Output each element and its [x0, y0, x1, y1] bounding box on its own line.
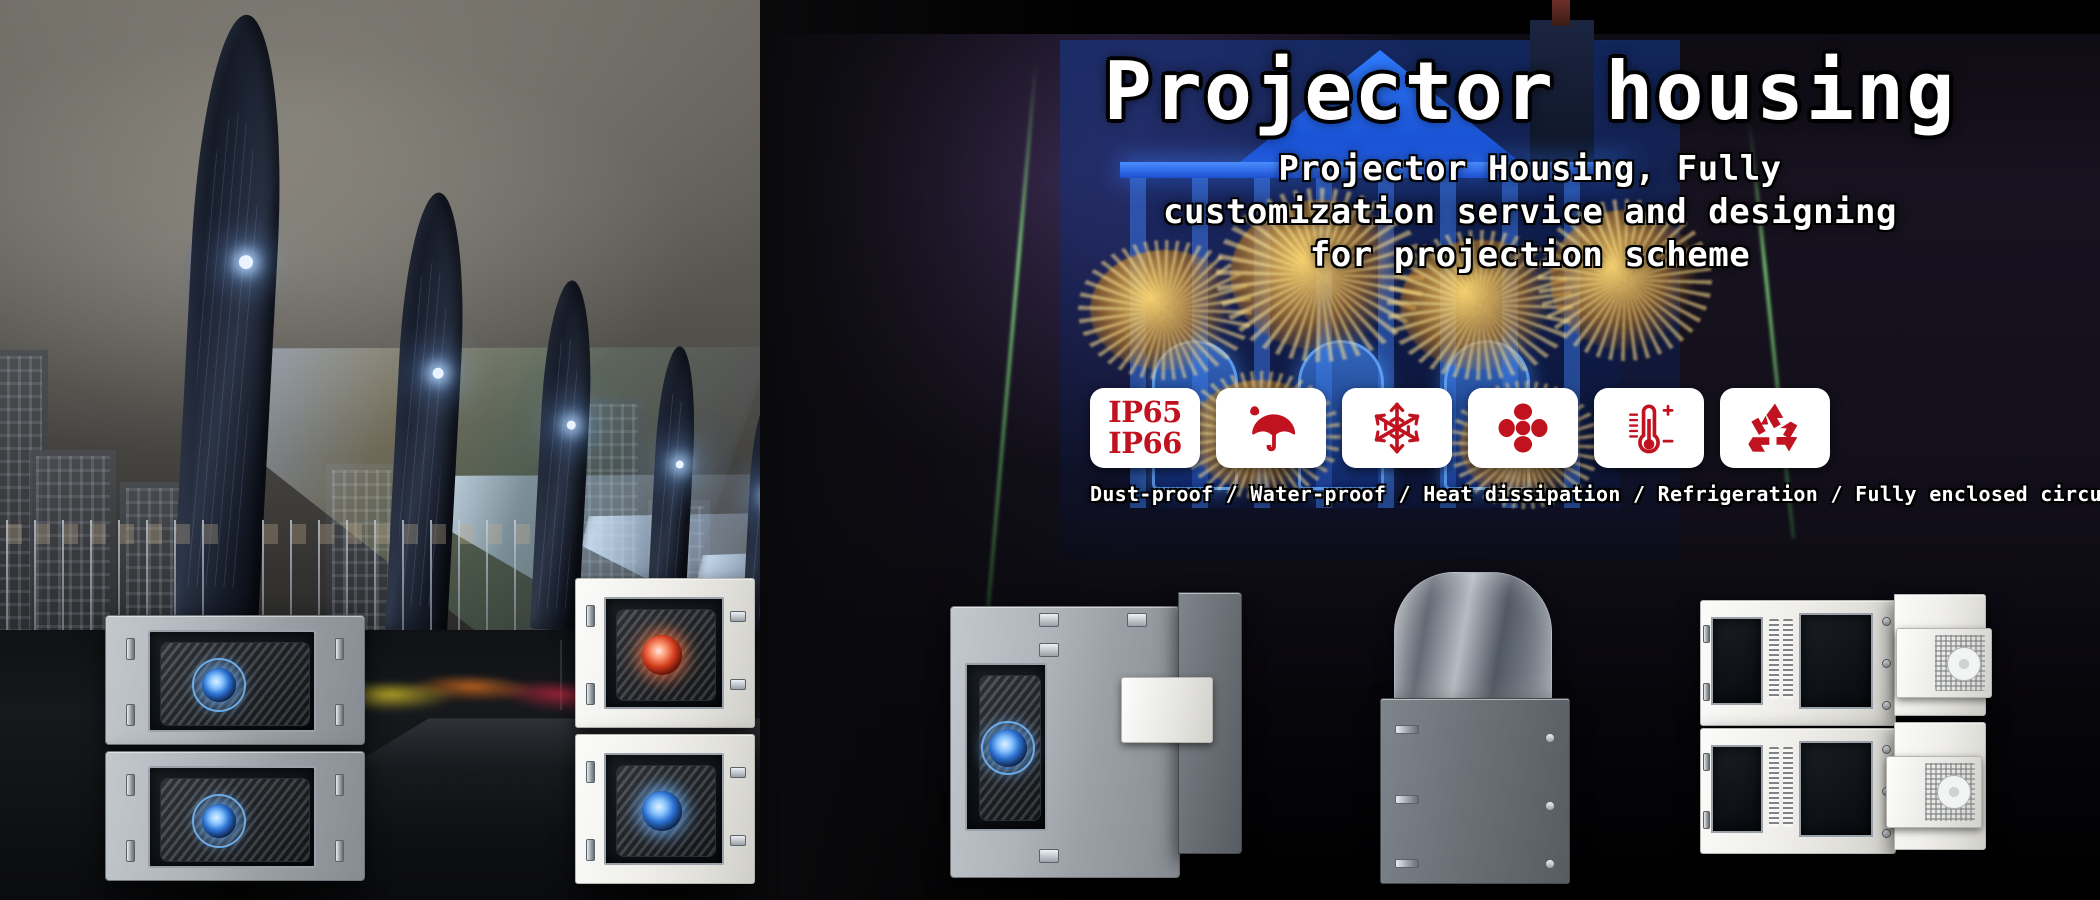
housing-hinge — [126, 704, 135, 726]
thermometer-icon — [1620, 399, 1678, 457]
housing-hinge — [335, 638, 344, 660]
housing-side-panel — [1121, 677, 1213, 743]
cabinet-window — [1711, 745, 1763, 833]
feature-tile-temperature-control[interactable] — [1594, 388, 1704, 468]
air-conditioner-unit-top — [1896, 628, 1992, 698]
housing-hinge — [126, 774, 135, 796]
fan-icon — [1494, 399, 1552, 457]
housing-hinge — [586, 605, 595, 627]
housing-hinge — [126, 638, 135, 660]
housing-latch — [730, 767, 746, 778]
stainless-dome — [1394, 572, 1552, 704]
feature-badges: IP65 IP66 — [1090, 388, 1910, 506]
housing-latch — [1545, 733, 1555, 743]
feature-tile-fully-enclosed-circulation[interactable] — [1720, 388, 1830, 468]
housing-window — [148, 630, 316, 732]
ac-fan-icon — [1937, 775, 1971, 809]
cabinet-unit-top — [1700, 600, 1896, 726]
housing-window — [604, 753, 724, 865]
housing-latch — [1127, 613, 1147, 627]
housing-latch — [730, 611, 746, 622]
product-dual-white-cabinet-housing[interactable] — [1700, 600, 2100, 900]
projector-lens — [642, 791, 682, 831]
feature-tile-ip-rating[interactable]: IP65 IP66 — [1090, 388, 1200, 468]
housing-hinge — [126, 840, 135, 862]
housing-window — [148, 766, 316, 868]
housing-unit-top — [105, 615, 365, 745]
page-title: Projector housing — [960, 50, 2100, 134]
product-grey-window-housing[interactable] — [950, 592, 1250, 892]
housing-hinge — [586, 839, 595, 861]
housing-hinge — [335, 840, 344, 862]
housing-hinge — [335, 774, 344, 796]
housing-latch — [1545, 801, 1555, 811]
ip-rating-line-1: IP65 — [1108, 397, 1182, 428]
projector-lens — [642, 635, 682, 675]
cabinet-unit-bottom — [1700, 728, 1896, 854]
snowflake-icon — [1369, 400, 1425, 456]
cabinet-latch — [1882, 745, 1891, 754]
projector-housing-banner: Projector housing Projector Housing, Ful… — [0, 0, 2100, 900]
ip-rating-line-2: IP66 — [1108, 428, 1182, 459]
cabinet-hinge — [1703, 811, 1710, 829]
product-stacked-grey-housing-pair[interactable] — [105, 615, 365, 900]
product-stacked-white-housing-pair[interactable] — [575, 578, 755, 900]
cabinet-latch — [1882, 829, 1891, 838]
housing-unit-bottom — [575, 734, 755, 884]
feature-icon-row: IP65 IP66 — [1090, 388, 1910, 468]
feature-caption: Dust-proof / Water-proof / Heat dissipat… — [1090, 482, 1910, 506]
banner-text-block: Projector housing Projector Housing, Ful… — [960, 50, 2100, 276]
cabinet-hinge — [1703, 683, 1710, 701]
cabinet-vent — [1769, 619, 1779, 699]
cabinet-hinge — [1703, 753, 1710, 771]
cabinet-hinge — [1703, 625, 1710, 643]
housing-latch — [1039, 613, 1059, 627]
housing-unit-bottom — [105, 751, 365, 881]
subtitle-line-3: for projection scheme — [960, 234, 2100, 277]
projector-lens — [202, 804, 236, 838]
housing-latch — [1039, 643, 1059, 657]
air-conditioner-unit-bottom — [1886, 756, 1982, 828]
cabinet-vent — [1783, 747, 1793, 827]
feature-tile-heat-dissipation[interactable] — [1342, 388, 1452, 468]
cabinet-vent — [1783, 619, 1793, 699]
housing-window — [604, 597, 724, 709]
cabinet-window — [1711, 617, 1763, 705]
housing-window — [965, 663, 1047, 831]
cabinet-latch — [1882, 659, 1891, 668]
projector-lens — [989, 729, 1027, 767]
feature-tile-water-proof[interactable] — [1216, 388, 1326, 468]
housing-hinge — [1395, 795, 1419, 804]
projector-lens — [202, 668, 236, 702]
housing-hinge — [335, 704, 344, 726]
housing-latch — [1039, 849, 1059, 863]
product-stainless-dome-housing[interactable] — [1380, 572, 1570, 900]
subtitle-line-1: Projector Housing, Fully — [960, 148, 2100, 191]
housing-side-face — [1178, 592, 1242, 854]
umbrella-rain-icon — [1242, 399, 1300, 457]
product-shadow — [1690, 872, 2090, 900]
housing-latch — [730, 835, 746, 846]
housing-base-cabinet — [1380, 698, 1570, 884]
subtitle-line-2: customization service and designing — [960, 191, 2100, 234]
cabinet-latch — [1882, 701, 1891, 710]
cabinet-latch — [1882, 617, 1891, 626]
housing-hinge — [586, 683, 595, 705]
housing-hinge — [1395, 725, 1419, 734]
housing-hinge — [586, 761, 595, 783]
recycle-icon — [1747, 400, 1803, 456]
cabinet-window — [1799, 741, 1873, 837]
banner-subtitle: Projector Housing, Fully customization s… — [960, 148, 2100, 276]
housing-hinge — [1395, 859, 1419, 868]
housing-latch — [730, 679, 746, 690]
ac-fan-icon — [1947, 647, 1981, 681]
cabinet-vent — [1769, 747, 1779, 827]
housing-latch — [1545, 859, 1555, 869]
housing-unit-top — [575, 578, 755, 728]
cabinet-window — [1799, 613, 1873, 709]
feature-tile-refrigeration[interactable] — [1468, 388, 1578, 468]
